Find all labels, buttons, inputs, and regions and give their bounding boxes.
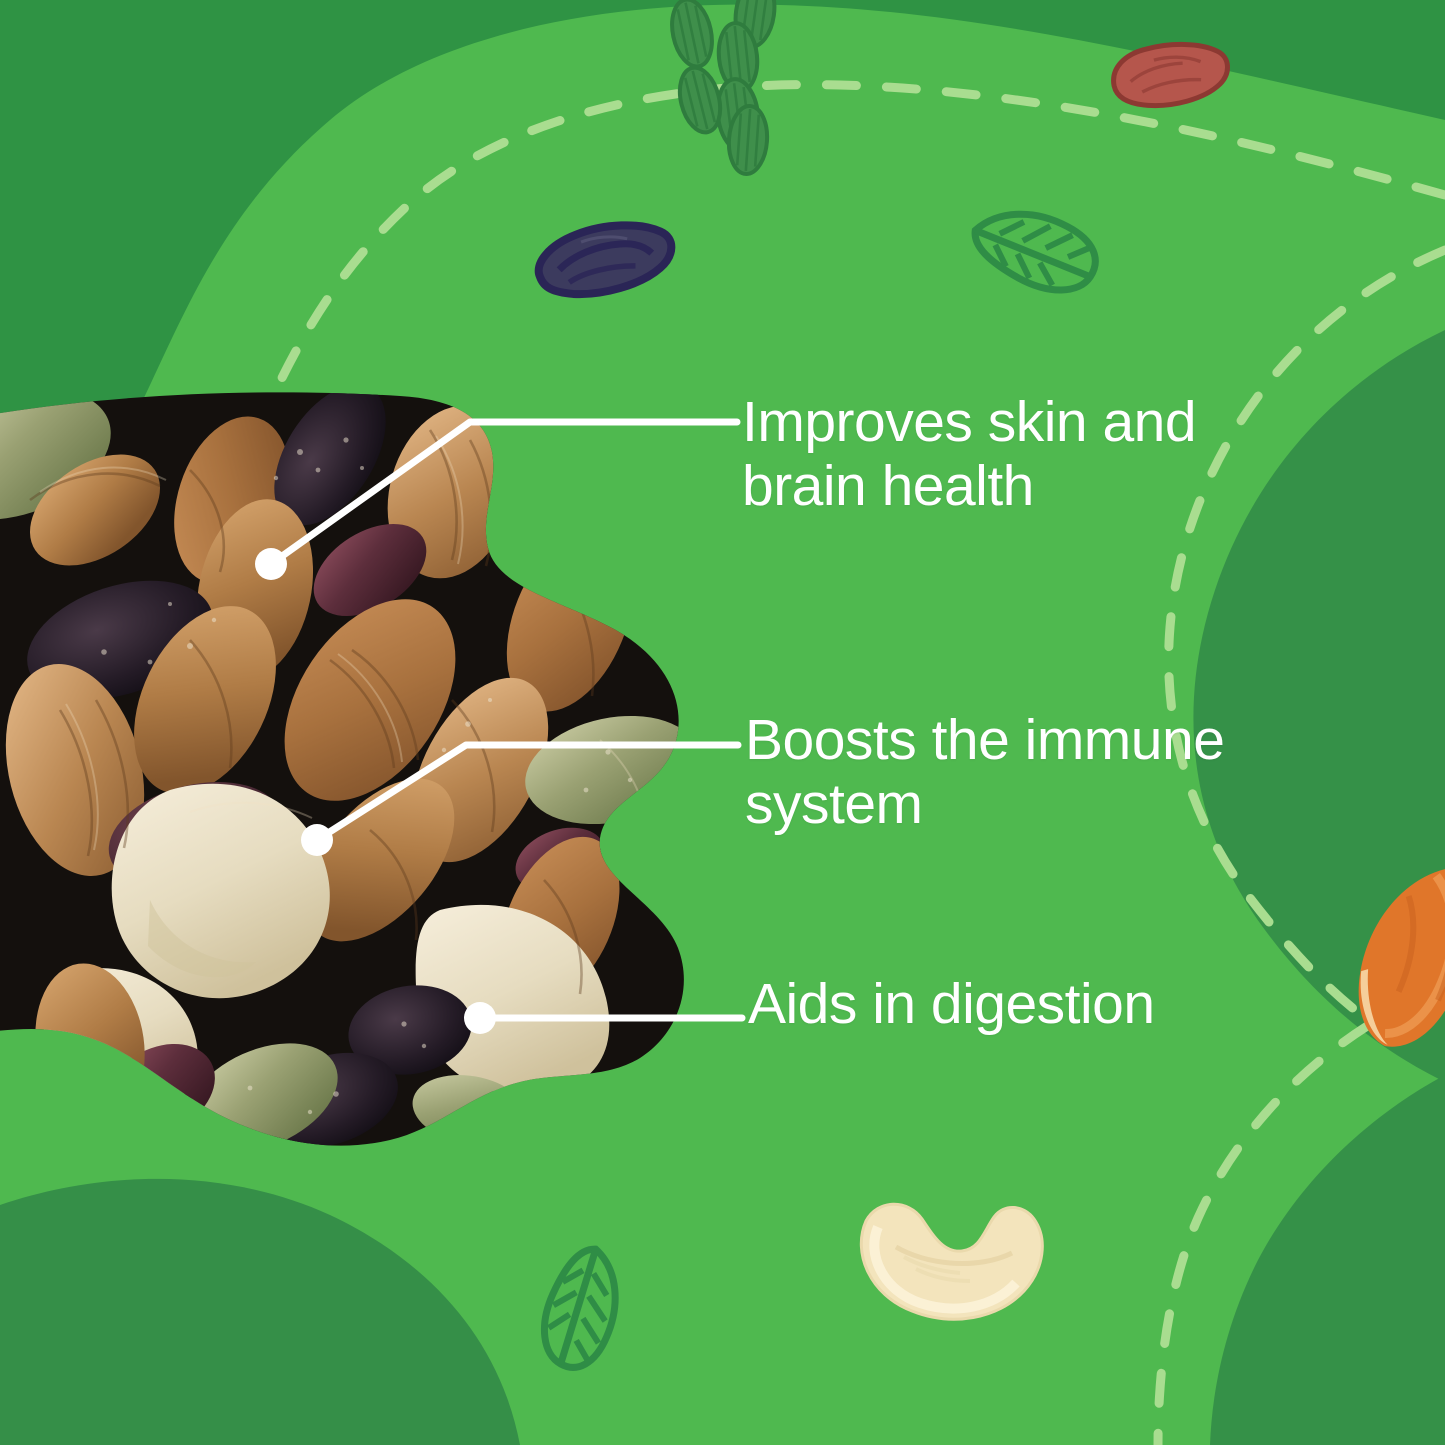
callout-text-boosts-the-immune-system: Boosts the immune system xyxy=(745,708,1305,837)
callout-text-improves-skin-and-brain-health: Improves skin and brain health xyxy=(742,390,1302,519)
infographic-canvas: Improves skin and brain health Boosts th… xyxy=(0,0,1445,1445)
callout-list: Improves skin and brain health Boosts th… xyxy=(0,0,1445,1445)
callout-text-aids-in-digestion: Aids in digestion xyxy=(748,972,1308,1036)
